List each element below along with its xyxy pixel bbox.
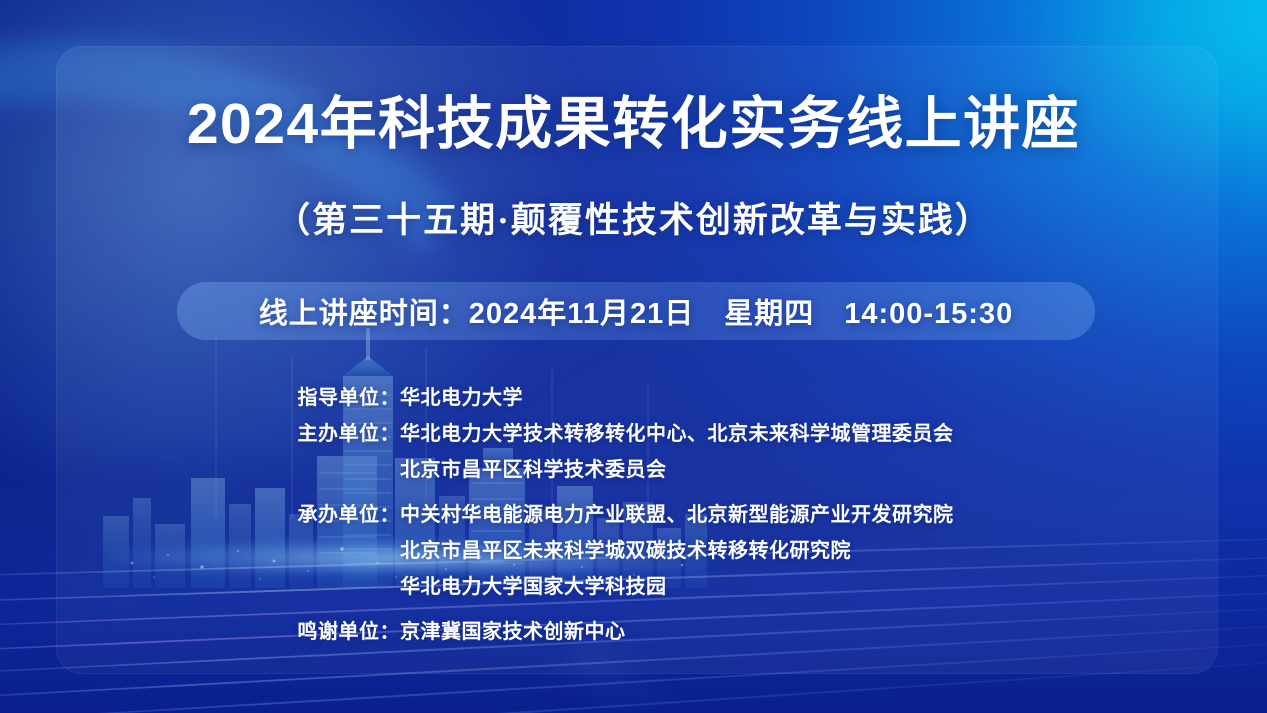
organizer-value: 北京市昌平区科学技术委员会 [400, 453, 667, 482]
organizer-value: 北京市昌平区未来科学城双碳技术转移转化研究院 [400, 534, 851, 563]
organizer-value: 华北电力大学 [400, 381, 523, 410]
organizer-row: 主办单位： 华北电力大学技术转移转化中心、北京未来科学城管理委员会 [0, 417, 1267, 453]
organizer-row: 鸣谢单位： 京津冀国家技术创新中心 [0, 615, 1267, 651]
poster-canvas: 2024年科技成果转化实务线上讲座 （第三十五期·颠覆性技术创新改革与实践） 线… [0, 0, 1267, 713]
organizer-label: 指导单位： [0, 381, 400, 410]
organizer-value: 华北电力大学技术转移转化中心、北京未来科学城管理委员会 [400, 417, 954, 446]
organizer-row: 指导单位： 华北电力大学 [0, 381, 1267, 417]
lecture-time-banner: 线上讲座时间：2024年11月21日 星期四 14:00-15:30 [177, 282, 1095, 340]
organizer-row: 北京市昌平区未来科学城双碳技术转移转化研究院 [0, 534, 1267, 570]
organizer-label: 主办单位： [0, 417, 400, 446]
organizer-label: 鸣谢单位： [0, 615, 400, 644]
organizer-value: 京津冀国家技术创新中心 [400, 615, 626, 644]
organizer-value: 华北电力大学国家大学科技园 [400, 570, 667, 599]
page-subtitle: （第三十五期·颠覆性技术创新改革与实践） [0, 192, 1267, 243]
organizer-label: 承办单位： [0, 498, 400, 527]
organizer-value: 中关村华电能源电力产业联盟、北京新型能源产业开发研究院 [400, 498, 954, 527]
organizer-row: 华北电力大学国家大学科技园 [0, 570, 1267, 606]
organizer-row: 北京市昌平区科学技术委员会 [0, 453, 1267, 489]
organizer-row: 承办单位： 中关村华电能源电力产业联盟、北京新型能源产业开发研究院 [0, 498, 1267, 534]
page-title: 2024年科技成果转化实务线上讲座 [0, 92, 1267, 158]
organizer-list: 指导单位： 华北电力大学 主办单位： 华北电力大学技术转移转化中心、北京未来科学… [0, 381, 1267, 651]
lecture-time-text: 线上讲座时间：2024年11月21日 星期四 14:00-15:30 [259, 290, 1013, 332]
poster-content: 2024年科技成果转化实务线上讲座 （第三十五期·颠覆性技术创新改革与实践） 线… [0, 0, 1267, 713]
